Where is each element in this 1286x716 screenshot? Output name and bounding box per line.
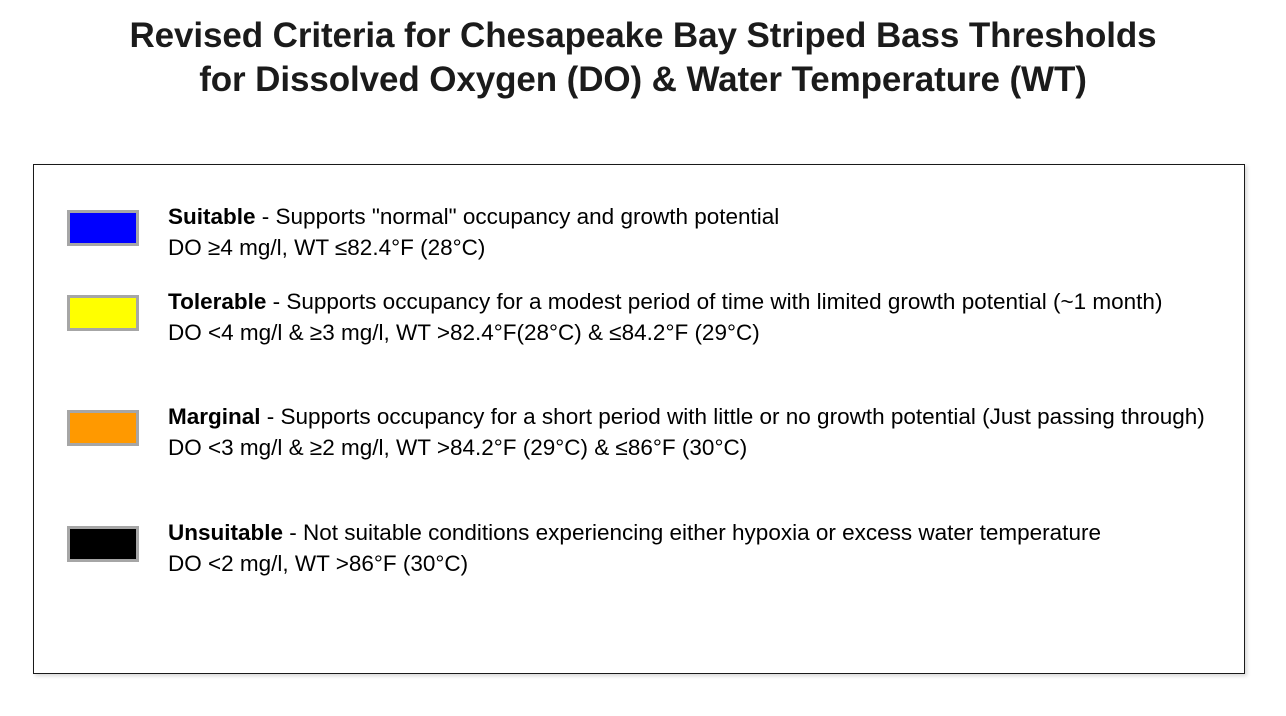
legend-thresholds: DO <2 mg/l, WT >86°F (30°C) [168,548,1230,579]
legend-entry-text: Suitable - Supports "normal" occupancy a… [168,201,1230,263]
legend-description: Supports occupancy for a modest period o… [286,289,1162,314]
legend-entry-text: Tolerable - Supports occupancy for a mod… [168,286,1230,348]
page-title: Revised Criteria for Chesapeake Bay Stri… [0,14,1286,102]
legend-label-tolerable: Tolerable [168,289,266,314]
page-title-line-1: Revised Criteria for Chesapeake Bay Stri… [0,14,1286,58]
legend-panel: Suitable - Supports "normal" occupancy a… [33,164,1245,674]
legend-entry-text: Unsuitable - Not suitable conditions exp… [168,517,1230,579]
legend-thresholds: DO ≥4 mg/l, WT ≤82.4°F (28°C) [168,232,1230,263]
legend-description: Not suitable conditions experiencing eit… [303,520,1101,545]
legend-label-unsuitable: Unsuitable [168,520,283,545]
legend-separator: - [266,289,286,314]
blue-swatch [67,210,139,246]
legend-description: Supports occupancy for a short period wi… [281,404,1205,429]
legend-list: Suitable - Supports "normal" occupancy a… [34,165,1244,673]
yellow-swatch [67,295,139,331]
orange-swatch [67,410,139,446]
legend-thresholds: DO <4 mg/l & ≥3 mg/l, WT >82.4°F(28°C) &… [168,317,1230,348]
legend-description: Supports "normal" occupancy and growth p… [276,204,780,229]
legend-separator: - [283,520,303,545]
legend-separator: - [256,204,276,229]
legend-separator: - [261,404,281,429]
legend-label-marginal: Marginal [168,404,261,429]
legend-entry-text: Marginal - Supports occupancy for a shor… [168,401,1230,463]
legend-thresholds: DO <3 mg/l & ≥2 mg/l, WT >84.2°F (29°C) … [168,432,1230,463]
page-title-line-2: for Dissolved Oxygen (DO) & Water Temper… [0,58,1286,102]
black-swatch [67,526,139,562]
legend-label-suitable: Suitable [168,204,256,229]
